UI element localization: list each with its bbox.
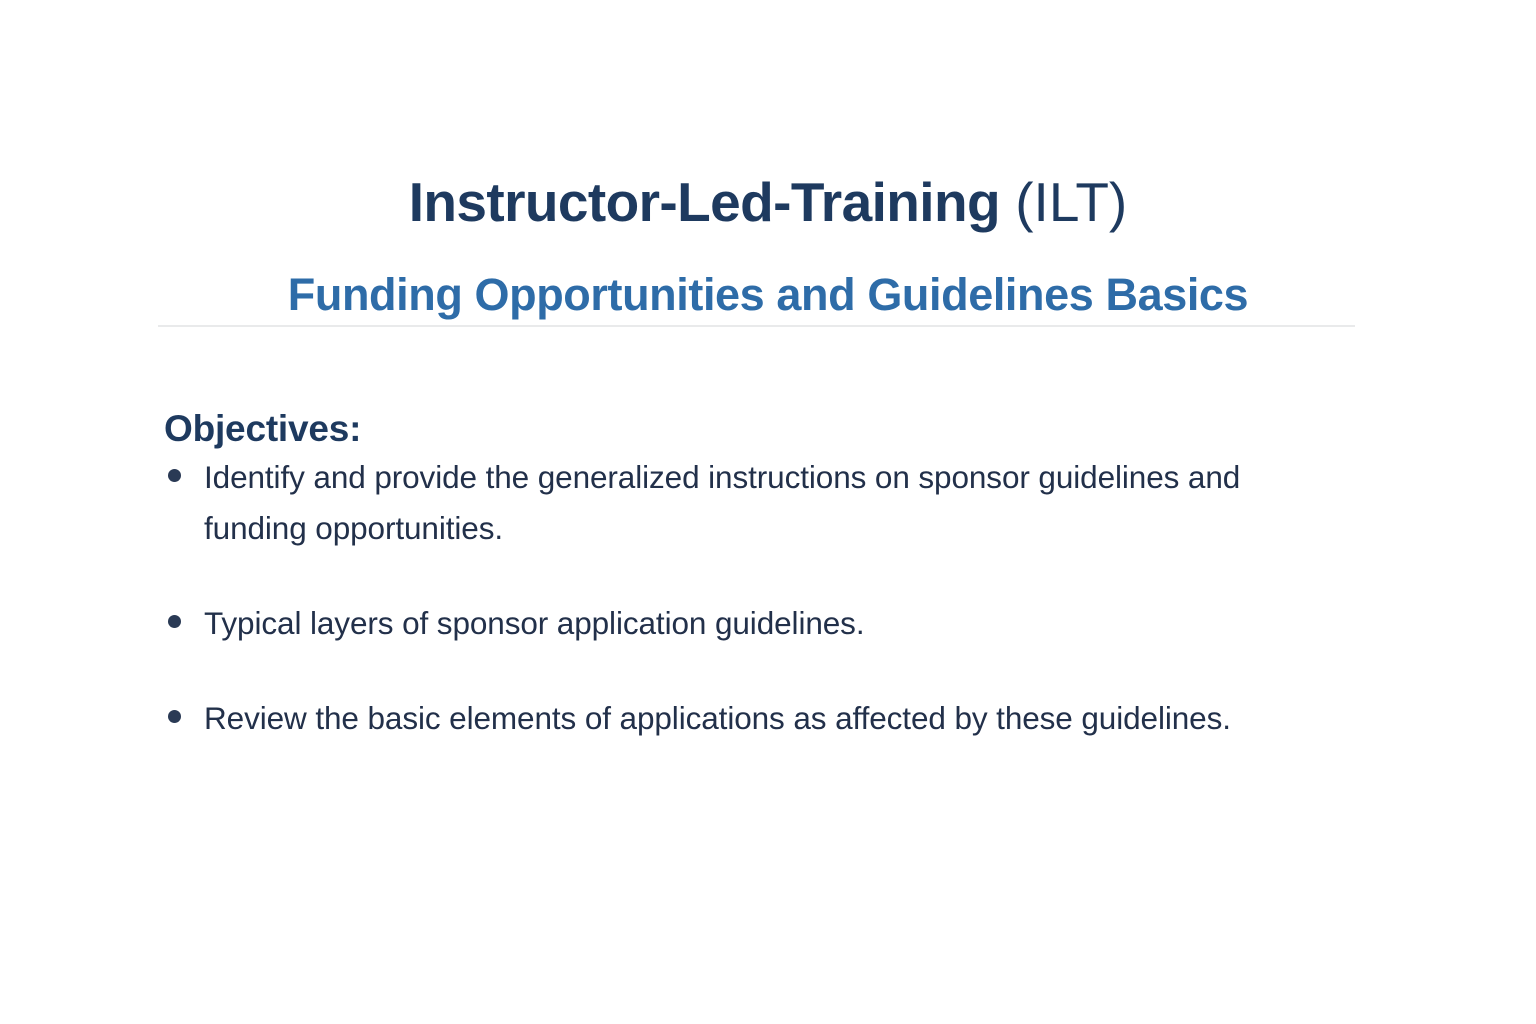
list-item: Identify and provide the generalized ins… — [164, 452, 1344, 554]
bullet-dot-icon — [168, 469, 181, 482]
page-title-parenthetical: (ILT) — [1000, 171, 1127, 233]
page-title-main: Instructor-Led-Training — [409, 171, 1000, 233]
objectives-bullet-list: Identify and provide the generalized ins… — [164, 452, 1344, 744]
slide-canvas: Instructor-Led-Training (ILT) Funding Op… — [0, 0, 1536, 1024]
page-title: Instructor-Led-Training (ILT) — [0, 173, 1536, 232]
list-item-label: Identify and provide the generalized ins… — [204, 452, 1344, 554]
list-item: Review the basic elements of application… — [164, 693, 1344, 744]
list-item-label: Typical layers of sponsor application gu… — [204, 598, 1344, 649]
bullet-dot-icon — [168, 710, 181, 723]
page-subtitle: Funding Opportunities and Guidelines Bas… — [0, 270, 1536, 320]
list-item: Typical layers of sponsor application gu… — [164, 598, 1344, 649]
objectives-heading: Objectives: — [164, 408, 361, 450]
list-item-label: Review the basic elements of application… — [204, 693, 1344, 744]
bullet-dot-icon — [168, 615, 181, 628]
header-divider — [158, 325, 1355, 327]
